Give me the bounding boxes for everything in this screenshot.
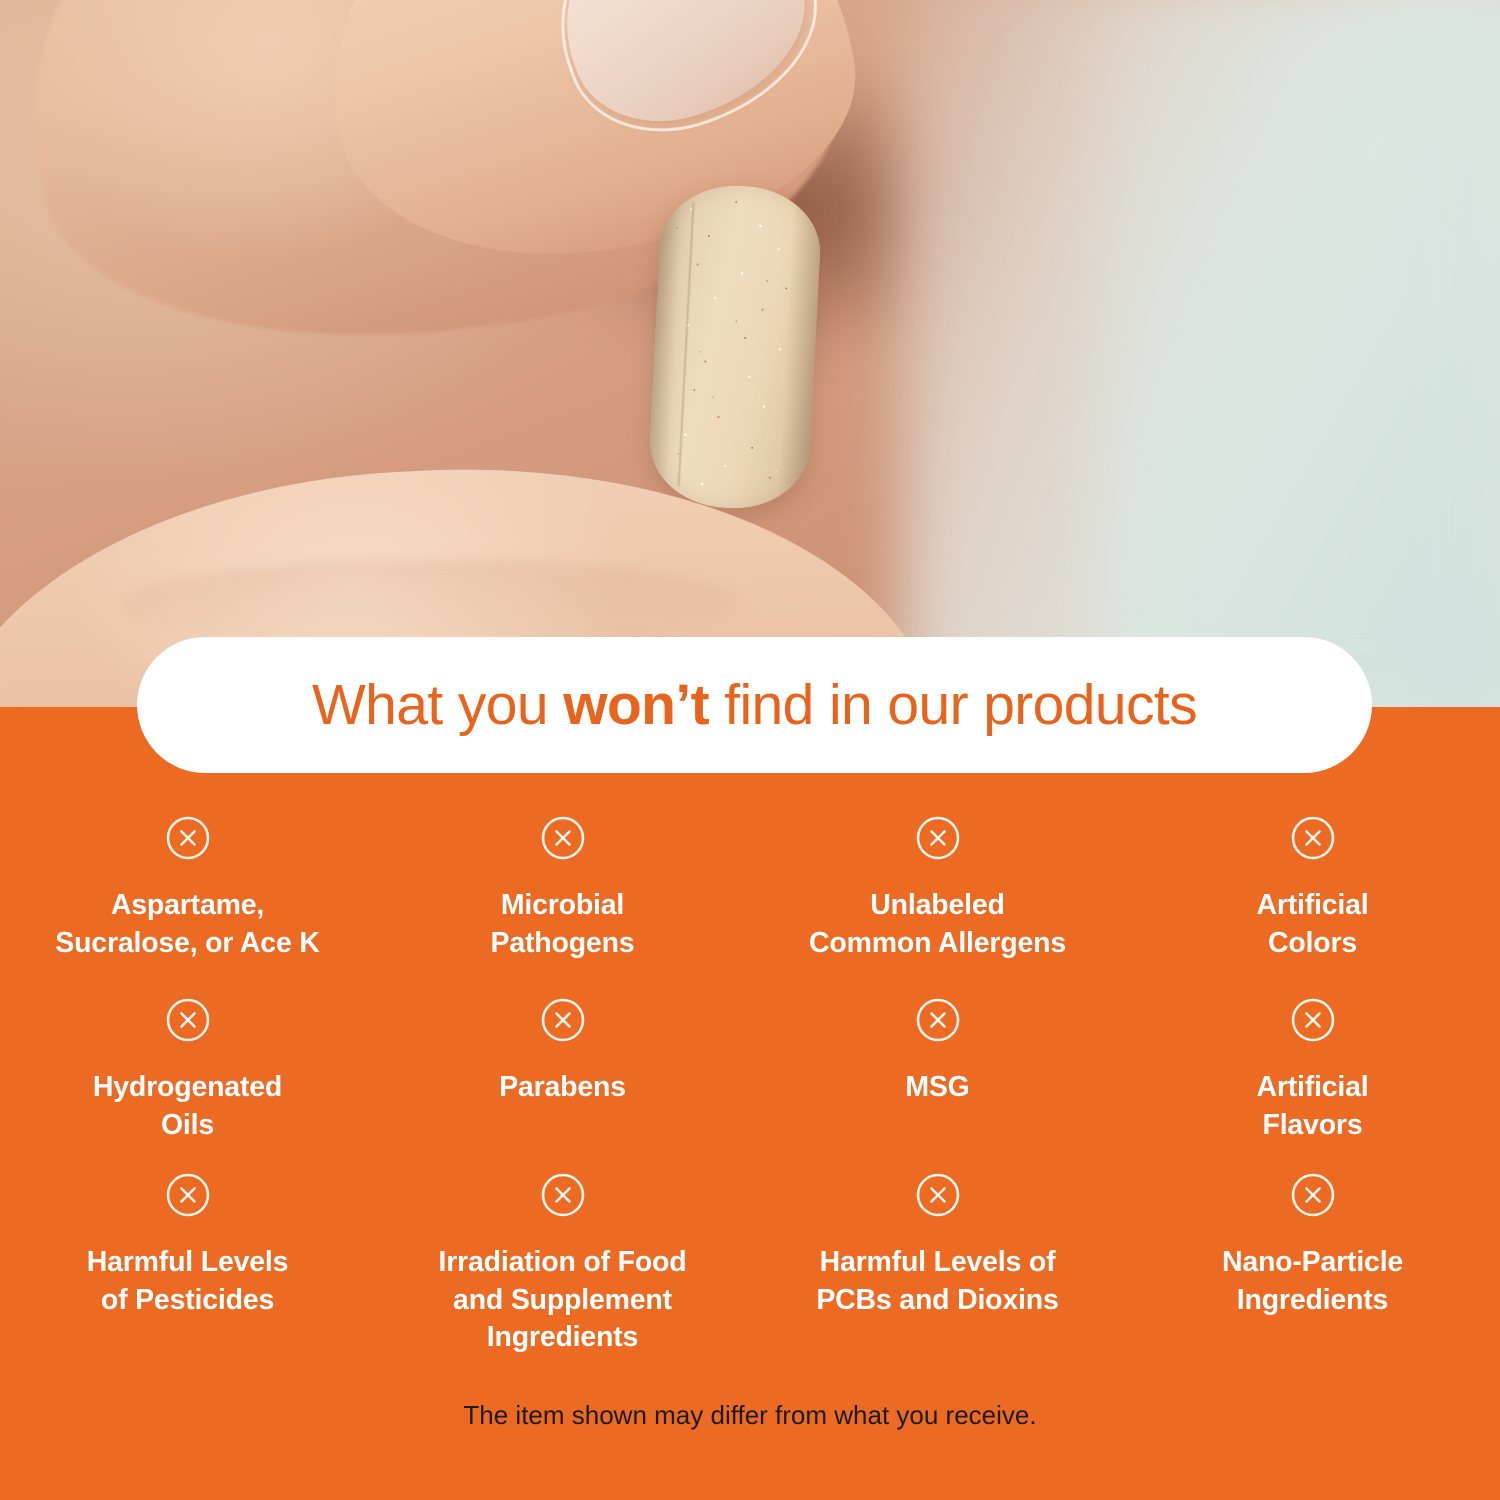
circle-x-icon: [540, 1172, 586, 1218]
circle-x-icon: [540, 815, 586, 861]
exclusion-item: Harmful Levels ofPCBs and Dioxins: [750, 1172, 1125, 1352]
exclusion-item: Nano-ParticleIngredients: [1125, 1172, 1500, 1352]
exclusion-label: Harmful Levels ofPCBs and Dioxins: [816, 1244, 1058, 1319]
exclusion-label: MicrobialPathogens: [491, 887, 635, 962]
circle-x-icon: [540, 997, 586, 1043]
exclusion-item: UnlabeledCommon Allergens: [750, 815, 1125, 997]
exclusion-item: HydrogenatedOils: [0, 997, 375, 1172]
circle-x-icon: [1290, 1172, 1336, 1218]
exclusion-item: Irradiation of Foodand SupplementIngredi…: [375, 1172, 750, 1352]
circle-x-icon: [915, 1172, 961, 1218]
headline-pill: What you won’t find in our products: [137, 637, 1372, 773]
exclusion-label: Parabens: [499, 1069, 626, 1107]
promo-graphic: What you won’t find in our products Aspa…: [0, 0, 1500, 1500]
exclusion-label: MSG: [905, 1069, 969, 1107]
circle-x-icon: [165, 1172, 211, 1218]
disclaimer-text: The item shown may differ from what you …: [0, 1400, 1500, 1431]
exclusion-item: Aspartame,Sucralose, or Ace K: [0, 815, 375, 997]
headline-emphasis: won’t: [563, 673, 709, 737]
exclusion-item: Harmful Levelsof Pesticides: [0, 1172, 375, 1352]
circle-x-icon: [1290, 997, 1336, 1043]
supplement-tablet: [647, 182, 824, 512]
exclusion-item: ArtificialColors: [1125, 815, 1500, 997]
exclusion-label: HydrogenatedOils: [93, 1069, 282, 1144]
exclusion-label: Irradiation of Foodand SupplementIngredi…: [439, 1244, 687, 1357]
circle-x-icon: [165, 997, 211, 1043]
exclusion-item: ArtificialFlavors: [1125, 997, 1500, 1172]
exclusion-label: Harmful Levelsof Pesticides: [87, 1244, 289, 1319]
exclusion-label: Nano-ParticleIngredients: [1222, 1244, 1403, 1319]
exclusion-label: ArtificialFlavors: [1256, 1069, 1368, 1144]
exclusions-grid: Aspartame,Sucralose, or Ace K MicrobialP…: [0, 815, 1500, 1352]
circle-x-icon: [915, 815, 961, 861]
circle-x-icon: [1290, 815, 1336, 861]
headline-part-1: What you: [312, 673, 563, 737]
product-photo: [0, 0, 1500, 710]
circle-x-icon: [915, 997, 961, 1043]
exclusion-item: Parabens: [375, 997, 750, 1172]
headline-part-2: find in our products: [709, 673, 1197, 737]
photo-background-cool-edge: [1110, 0, 1500, 710]
exclusion-label: UnlabeledCommon Allergens: [809, 887, 1066, 962]
exclusion-label: Aspartame,Sucralose, or Ace K: [55, 887, 319, 962]
exclusion-item: MicrobialPathogens: [375, 815, 750, 997]
exclusion-item: MSG: [750, 997, 1125, 1172]
circle-x-icon: [165, 815, 211, 861]
exclusion-label: ArtificialColors: [1256, 887, 1368, 962]
page-title: What you won’t find in our products: [312, 672, 1197, 738]
